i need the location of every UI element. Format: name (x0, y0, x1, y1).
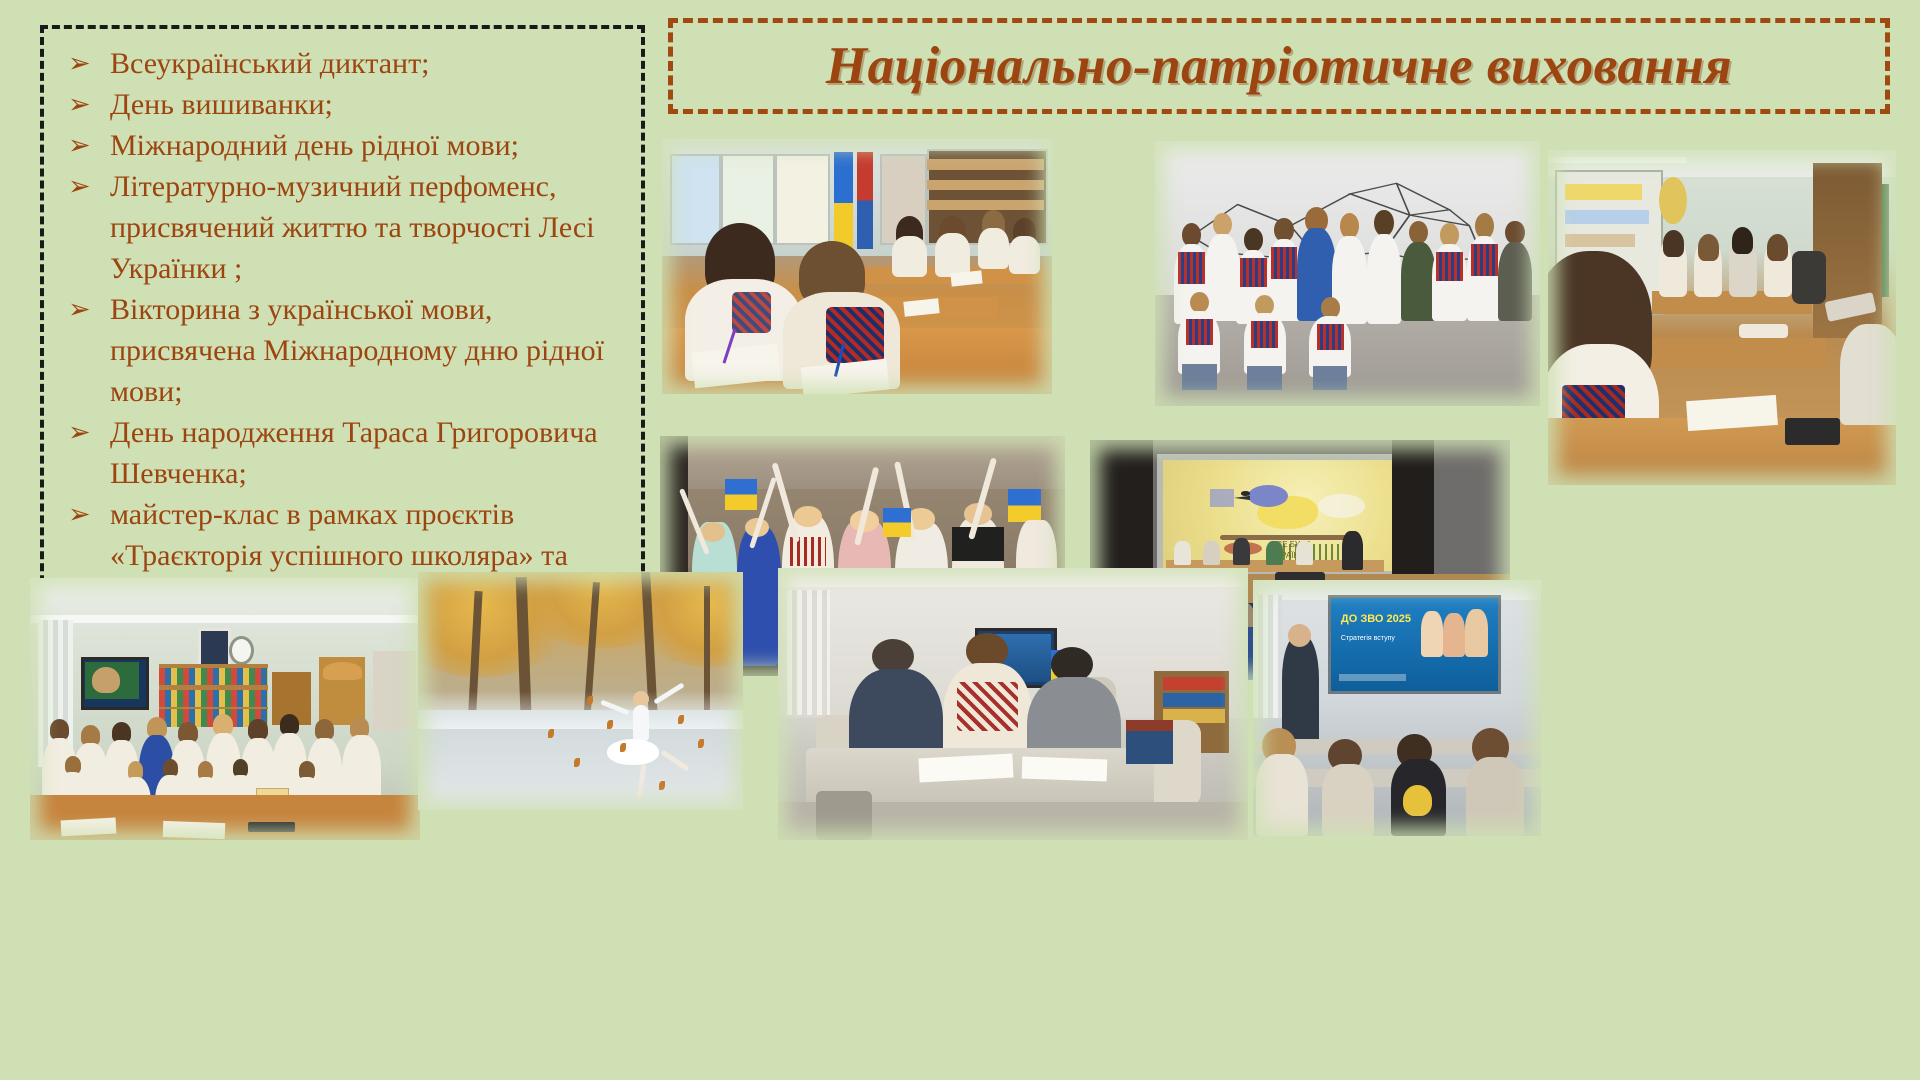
arrow-bullet-icon: ➢ (68, 84, 91, 125)
list-item-label: Вікторина з української мови, присвячена… (110, 293, 604, 408)
photo-presentation-class: ДО ЗВО 2025 Стратегія вступу (1253, 580, 1541, 836)
list-item: ➢ День народження Тараса Григоровича Шев… (62, 412, 631, 494)
list-item-label: День вишиванки; (110, 88, 333, 121)
arrow-bullet-icon: ➢ (68, 43, 91, 84)
list-item: ➢ Всеукраїнський диктант; (62, 43, 631, 84)
list-item-label: День народження Тараса Григоровича Шевче… (110, 416, 598, 490)
title-banner: Національно-патріотичне виховання (668, 18, 1890, 114)
photo-signing-meeting (778, 568, 1248, 840)
list-item-label: Літературно-музичний перфоменс, присвяче… (110, 170, 595, 285)
list-item: ➢ Літературно-музичний перфоменс, присвя… (62, 166, 631, 289)
list-item-label: Міжнародний день рідної мови; (110, 129, 519, 162)
photo-classroom-discussion (1548, 150, 1896, 485)
slide-canvas: ➢ Всеукраїнський диктант; ➢ День вишиван… (0, 0, 1920, 1080)
list-item: ➢ Вікторина з української мови, присвяче… (62, 289, 631, 412)
list-item-label: Всеукраїнський диктант; (110, 47, 430, 80)
arrow-bullet-icon: ➢ (68, 494, 91, 535)
list-item: ➢ День вишиванки; (62, 84, 631, 125)
arrow-bullet-icon: ➢ (68, 125, 91, 166)
photo-dictation-classroom (662, 139, 1052, 394)
photo-autumn-ballerina (418, 572, 743, 810)
arrow-bullet-icon: ➢ (68, 289, 91, 330)
bullet-list-textbox: ➢ Всеукраїнський диктант; ➢ День вишиван… (40, 25, 645, 655)
arrow-bullet-icon: ➢ (68, 412, 91, 453)
list-item: ➢ Міжнародний день рідної мови; (62, 125, 631, 166)
presentation-title: ДО ЗВО 2025 (1341, 613, 1411, 625)
photo-class-library-group (30, 578, 420, 840)
photo-vyshyvanka-group (1155, 141, 1540, 406)
page-title: Національно-патріотичне виховання (826, 36, 1732, 96)
bullet-list: ➢ Всеукраїнський диктант; ➢ День вишиван… (62, 43, 631, 617)
presentation-subtitle: Стратегія вступу (1341, 635, 1395, 642)
arrow-bullet-icon: ➢ (68, 166, 91, 207)
